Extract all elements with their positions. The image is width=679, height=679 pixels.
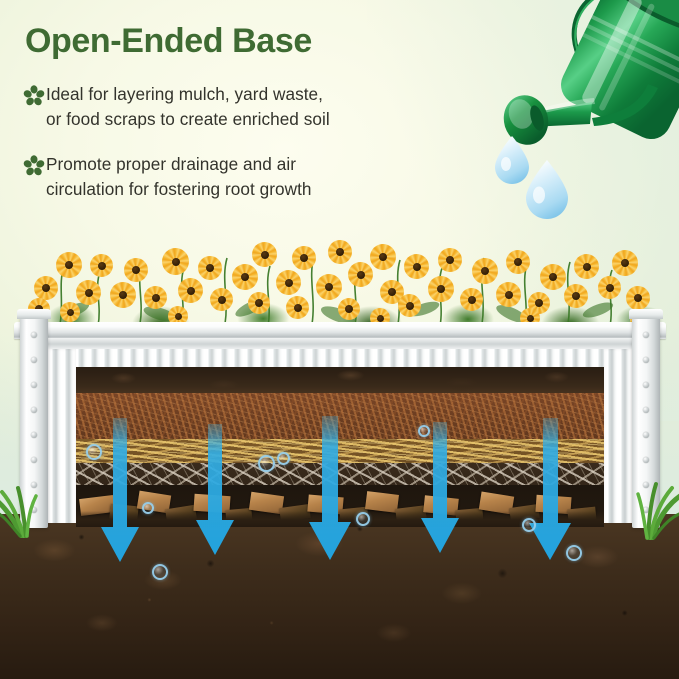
post-cap: [17, 309, 51, 319]
post-rivet: [31, 407, 37, 413]
flower-bloom: [626, 286, 650, 310]
flower-bloom: [338, 298, 360, 320]
flower-bloom: [540, 264, 566, 290]
layer-compost-mulch: [76, 393, 604, 445]
flower-bloom: [110, 282, 136, 308]
flower-bloom: [574, 254, 599, 279]
layer-topsoil: [76, 367, 604, 395]
flower-bloom: [398, 294, 421, 317]
grass-tuft: [0, 468, 42, 538]
flower-bloom: [56, 252, 82, 278]
list-item-label: Ideal for layering mulch, yard waste, or…: [46, 82, 330, 132]
list-item: Ideal for layering mulch, yard waste, or…: [22, 82, 442, 132]
soil-cross-section: [76, 367, 604, 527]
flower-bloom: [232, 264, 258, 290]
post-rivet: [643, 407, 649, 413]
bed-panel-top-strip: [48, 347, 632, 367]
infographic-stage: Open-Ended Base Ideal for layering mulch…: [0, 0, 679, 679]
flower-bloom: [564, 284, 588, 308]
air-circulation-bubble: [566, 545, 582, 561]
flower-bloom: [496, 282, 521, 307]
post-rivet: [643, 382, 649, 388]
air-circulation-bubble: [258, 455, 275, 472]
bed-top-rail: [14, 322, 666, 339]
flower-bloom: [248, 292, 270, 314]
flower-bloom: [276, 270, 301, 295]
bed-top-rail-shadow: [20, 338, 660, 349]
clover-flower-bullet-icon: [22, 84, 46, 108]
list-item-line-2: circulation for fostering root growth: [46, 179, 312, 199]
post-rivet: [643, 432, 649, 438]
clover-flower-bullet-icon: [22, 154, 46, 178]
post-rivet: [31, 332, 37, 338]
post-rivet: [31, 432, 37, 438]
post-rivet: [31, 382, 37, 388]
feature-bullet-list: Ideal for layering mulch, yard waste, or…: [22, 82, 442, 218]
post-rivet: [643, 332, 649, 338]
flower-bloom: [292, 246, 316, 270]
flower-bloom: [162, 248, 189, 275]
flower-bloom: [438, 248, 462, 272]
list-item-line-2: or food scraps to create enriched soil: [46, 109, 330, 129]
air-circulation-bubble: [152, 564, 168, 580]
black-eyed-susan-flowers: [20, 236, 660, 328]
post-cap: [629, 309, 663, 319]
water-droplet: [526, 160, 568, 219]
flower-bloom: [612, 250, 638, 276]
grass-tuft: [636, 462, 679, 540]
flower-bloom: [428, 276, 454, 302]
page-title: Open-Ended Base: [25, 22, 312, 61]
air-circulation-bubble: [86, 444, 102, 460]
flower-bloom: [598, 276, 621, 299]
flower-bloom: [252, 242, 277, 267]
flower-bloom: [472, 258, 498, 284]
watering-can: [490, 0, 679, 234]
bed-panel-left: [48, 347, 76, 523]
flower-bloom: [286, 296, 309, 319]
post-rivet: [31, 457, 37, 463]
flower-bloom: [316, 274, 342, 300]
flower-bloom: [90, 254, 113, 277]
flower-bloom: [328, 240, 352, 264]
post-rivet: [31, 357, 37, 363]
list-item: Promote proper drainage and air circulat…: [22, 152, 442, 202]
flower-bloom: [404, 254, 429, 279]
flower-bloom: [34, 276, 58, 300]
flower-bloom: [506, 250, 530, 274]
flower-bloom: [178, 278, 203, 303]
flower-bloom: [124, 258, 148, 282]
flower-bloom: [370, 244, 396, 270]
flower-bloom: [210, 288, 233, 311]
flower-bloom: [60, 302, 80, 322]
list-item-line-1: Promote proper drainage and air: [46, 154, 296, 174]
air-circulation-bubble: [277, 452, 290, 465]
air-circulation-bubble: [142, 502, 154, 514]
list-item-label: Promote proper drainage and air circulat…: [46, 152, 312, 202]
metal-raised-garden-bed: [14, 322, 666, 548]
flower-bloom: [198, 256, 222, 280]
post-rivet: [643, 357, 649, 363]
list-item-line-1: Ideal for layering mulch, yard waste,: [46, 84, 323, 104]
flower-bloom: [144, 286, 167, 309]
air-circulation-bubble: [418, 425, 430, 437]
air-circulation-bubble: [356, 512, 370, 526]
flower-bloom: [460, 288, 483, 311]
air-circulation-bubble: [522, 518, 536, 532]
bed-panel-right: [604, 347, 632, 523]
